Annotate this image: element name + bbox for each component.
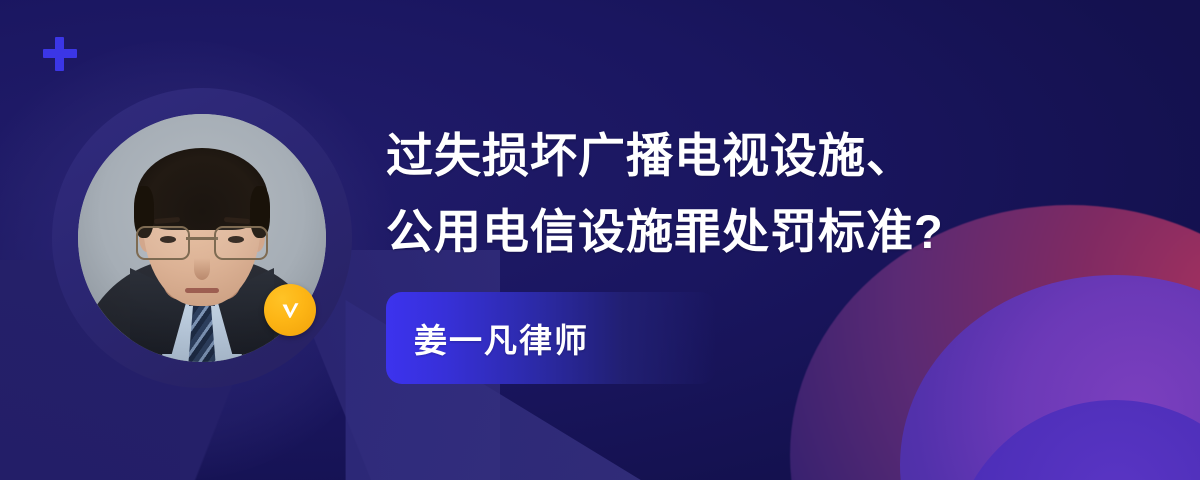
avatar xyxy=(52,88,352,388)
title-block: 过失损坏广播电视设施、 公用电信设施罪处罚标准? xyxy=(386,118,1126,270)
lawyer-name-badge[interactable]: 姜一凡律师 xyxy=(386,292,716,384)
verified-badge-icon xyxy=(264,284,316,336)
lawyer-name-label: 姜一凡律师 xyxy=(386,314,589,362)
legal-qa-banner: 过失损坏广播电视设施、 公用电信设施罪处罚标准? 姜一凡律师 xyxy=(0,0,1200,480)
page-title-line1: 过失损坏广播电视设施、 xyxy=(386,118,1126,194)
page-title-line2: 公用电信设施罪处罚标准? xyxy=(386,194,1126,270)
plus-icon xyxy=(43,37,77,71)
